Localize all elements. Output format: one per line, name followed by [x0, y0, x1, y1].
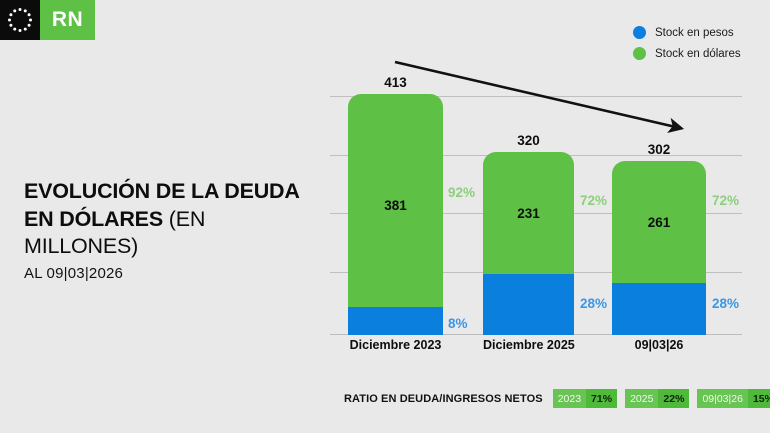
x-axis-labels: Diciembre 2023 Diciembre 2025 09|03|26 [330, 338, 742, 356]
bar-segment-pesos-2025[interactable] [483, 274, 574, 335]
brand-logo: RN [0, 0, 95, 40]
bar-percent-pesos-2023: 8% [448, 316, 468, 331]
bar-segment-pesos-20260309[interactable] [612, 283, 706, 335]
bar-group-2023[interactable]: 413 381 [348, 94, 443, 335]
bar-percent-pesos-20260309: 28% [712, 296, 739, 311]
bar-segment-dolares-2023[interactable]: 381 [348, 94, 443, 316]
page-subtitle: AL 09|03|2026 [24, 265, 324, 282]
bar-segment-pesos-2023[interactable] [348, 307, 443, 335]
bar-segment-dolares-2025[interactable]: 231 [483, 152, 574, 275]
legend-item-stock-dolares: Stock en dólares [633, 47, 741, 60]
legend-label-stock-pesos: Stock en pesos [655, 27, 734, 39]
bar-percent-dolares-20260309: 72% [712, 193, 739, 208]
title-block: EVOLUCIÓN DE LA DEUDA EN DÓLARES (EN MIL… [24, 178, 324, 282]
page-title-strong: EN DÓLARES [24, 207, 169, 231]
ratio-badge-2025: 2025 22% [625, 389, 689, 408]
brand-wordmark: RN [40, 0, 95, 40]
legend-label-stock-dolares: Stock en dólares [655, 48, 741, 60]
bar-total-label-2023: 413 [348, 75, 443, 94]
bar-segment-dolares-20260309[interactable]: 261 [612, 161, 706, 284]
x-axis-label-2023: Diciembre 2023 [348, 338, 443, 352]
bar-total-label-2025: 320 [483, 133, 574, 152]
legend-item-stock-pesos: Stock en pesos [633, 26, 741, 39]
ratio-badge-20260309: 09|03|26 15% [697, 389, 770, 408]
ratio-badge-year-2025: 2025 [625, 389, 658, 408]
ratio-footer: RATIO EN DEUDA/INGRESOS NETOS 2023 71% 2… [344, 389, 770, 408]
ratio-badge-value-2023: 71% [586, 389, 617, 408]
ratio-badge-year-20260309: 09|03|26 [697, 389, 748, 408]
legend-color-swatch-blue [633, 26, 646, 39]
bar-group-2025[interactable]: 320 231 [483, 152, 574, 335]
bar-group-20260309[interactable]: 302 261 [612, 161, 706, 335]
ratio-badge-2023: 2023 71% [553, 389, 617, 408]
bar-total-label-20260309: 302 [612, 142, 706, 161]
ratio-footer-title: RATIO EN DEUDA/INGRESOS NETOS [344, 393, 543, 405]
page-title-line-2: EN DÓLARES (EN MILLONES) [24, 206, 324, 261]
legend-color-swatch-green [633, 47, 646, 60]
bar-percent-dolares-2023: 92% [448, 185, 475, 200]
eu-stars-circle-icon [0, 0, 40, 40]
page-title-line-1: EVOLUCIÓN DE LA DEUDA [24, 178, 324, 206]
bar-stack-20260309: 261 [612, 161, 706, 335]
stacked-bar-chart: 413 381 92% 8% 320 231 72% 28% 302 261 7… [330, 60, 742, 335]
x-axis-label-2025: Diciembre 2025 [483, 338, 574, 352]
bar-segment-value-dolares-20260309: 261 [648, 215, 671, 230]
bar-segment-value-dolares-2025: 231 [517, 206, 540, 221]
bar-percent-dolares-2025: 72% [580, 193, 607, 208]
bar-stack-2025: 231 [483, 152, 574, 335]
ratio-badge-value-20260309: 15% [748, 389, 770, 408]
bar-stack-2023: 381 [348, 94, 443, 335]
ratio-badge-year-2023: 2023 [553, 389, 586, 408]
x-axis-label-20260309: 09|03|26 [612, 338, 706, 352]
chart-legend: Stock en pesos Stock en dólares [633, 26, 741, 60]
bar-percent-pesos-2025: 28% [580, 296, 607, 311]
ratio-badge-value-2025: 22% [658, 389, 689, 408]
bar-segment-value-dolares-2023: 381 [384, 198, 407, 213]
